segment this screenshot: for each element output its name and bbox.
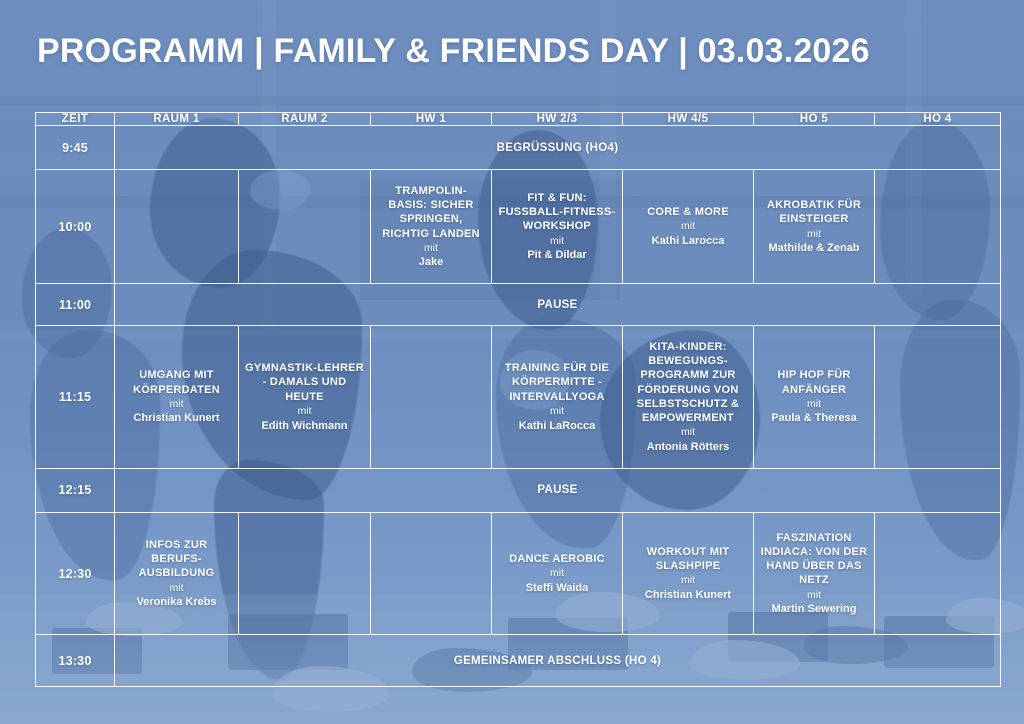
session-person: Kathi LaRocca: [497, 419, 617, 433]
session-person: Christian Kunert: [120, 411, 233, 425]
session-person: Antonia Rötters: [628, 440, 748, 454]
session-person: Jake: [376, 255, 486, 269]
column-header-raum-2: RAUM 2: [239, 113, 371, 126]
session-title: HIP HOP FÜR ANFÄNGER: [759, 368, 869, 397]
session-cell: FASZINATION INDIACA: VON DER HAND ÜBER D…: [754, 512, 875, 634]
session-title: FASZINATION INDIACA: VON DER HAND ÜBER D…: [759, 531, 869, 588]
session-person: Veronika Krebs: [120, 595, 233, 609]
session-cell: [115, 170, 239, 284]
full-width-event: PAUSE: [115, 468, 1001, 512]
session-person: Kathi Larocca: [628, 234, 748, 248]
session-person: Steffi Waida: [497, 581, 617, 595]
column-header-hw-2-3: HW 2/3: [492, 113, 623, 126]
column-header-hw-1: HW 1: [371, 113, 492, 126]
session-cell: [875, 512, 1001, 634]
table-row: 10:00 TRAMPOLIN-BASIS: SICHER SPRINGEN, …: [36, 170, 1001, 284]
session-cell: [239, 512, 371, 634]
table-row: 11:15 UMGANG MIT KÖRPERDATEN mit Christi…: [36, 326, 1001, 468]
session-with: mit: [759, 228, 869, 242]
session-cell: DANCE AEROBIC mit Steffi Waida: [492, 512, 623, 634]
session-cell: INFOS ZUR BERUFS-AUSBILDUNG mit Veronika…: [115, 512, 239, 634]
table-row: 9:45 BEGRÜSSUNG (HO4): [36, 126, 1001, 170]
session-title: WORKOUT MIT SLASHPIPE: [628, 545, 748, 574]
session-with: mit: [120, 582, 233, 596]
session-cell: HIP HOP FÜR ANFÄNGER mit Paula & Theresa: [754, 326, 875, 468]
row-time: 13:30: [36, 635, 115, 687]
session-with: mit: [759, 398, 869, 412]
row-time: 9:45: [36, 126, 115, 170]
session-person: Mathilde & Zenab: [759, 241, 869, 255]
table-row: 11:00 PAUSE: [36, 284, 1001, 326]
full-width-event: GEMEINSAMER ABSCHLUSS (HO 4): [115, 635, 1001, 687]
table-row: 12:15 PAUSE: [36, 468, 1001, 512]
session-title: TRAMPOLIN-BASIS: SICHER SPRINGEN, RICHTI…: [376, 184, 486, 241]
session-cell: [875, 326, 1001, 468]
session-with: mit: [120, 398, 233, 412]
page-title: PROGRAMM | FAMILY & FRIENDS DAY | 03.03.…: [37, 32, 870, 71]
row-time: 11:00: [36, 284, 115, 326]
session-cell: UMGANG MIT KÖRPERDATEN mit Christian Kun…: [115, 326, 239, 468]
session-cell: TRAINING FÜR DIE KÖRPERMITTE - INTERVALL…: [492, 326, 623, 468]
session-title: CORE & MORE: [628, 205, 748, 219]
column-header-raum-1: RAUM 1: [115, 113, 239, 126]
session-cell: KITA-KINDER: BEWEGUNGS-PROGRAMM ZUR FÖRD…: [623, 326, 754, 468]
full-width-event: PAUSE: [115, 284, 1001, 326]
session-with: mit: [628, 220, 748, 234]
session-person: Christian Kunert: [628, 588, 748, 602]
session-with: mit: [376, 242, 486, 256]
row-time: 12:30: [36, 512, 115, 634]
session-person: Pit & Dildar: [497, 248, 617, 262]
session-cell: GYMNASTIK-LEHRER - DAMALS UND HEUTE mit …: [239, 326, 371, 468]
full-width-event: BEGRÜSSUNG (HO4): [115, 126, 1001, 170]
session-with: mit: [497, 235, 617, 249]
column-header-hw-4-5: HW 4/5: [623, 113, 754, 126]
session-cell: FIT & FUN: FUSSBALL-FITNESS-WORKSHOP mit…: [492, 170, 623, 284]
session-title: AKROBATIK FÜR EINSTEIGER: [759, 198, 869, 227]
table-row: 13:30 GEMEINSAMER ABSCHLUSS (HO 4): [36, 635, 1001, 687]
session-title: UMGANG MIT KÖRPERDATEN: [120, 368, 233, 397]
session-title: KITA-KINDER: BEWEGUNGS-PROGRAMM ZUR FÖRD…: [628, 340, 748, 426]
session-title: GYMNASTIK-LEHRER - DAMALS UND HEUTE: [244, 361, 365, 404]
session-with: mit: [497, 567, 617, 581]
column-header-ho-5: HO 5: [754, 113, 875, 126]
session-with: mit: [628, 574, 748, 588]
row-time: 11:15: [36, 326, 115, 468]
session-person: Paula & Theresa: [759, 411, 869, 425]
session-cell: [875, 170, 1001, 284]
session-cell: TRAMPOLIN-BASIS: SICHER SPRINGEN, RICHTI…: [371, 170, 492, 284]
session-cell: [371, 326, 492, 468]
column-header-ho-4: HO 4: [875, 113, 1001, 126]
session-with: mit: [497, 405, 617, 419]
row-time: 12:15: [36, 468, 115, 512]
column-header-zeit: ZEIT: [36, 113, 115, 126]
schedule-table: ZEIT RAUM 1 RAUM 2 HW 1 HW 2/3 HW 4/5 HO…: [35, 112, 1001, 687]
session-with: mit: [244, 405, 365, 419]
table-header-row: ZEIT RAUM 1 RAUM 2 HW 1 HW 2/3 HW 4/5 HO…: [36, 113, 1001, 126]
session-cell: AKROBATIK FÜR EINSTEIGER mit Mathilde & …: [754, 170, 875, 284]
table-row: 12:30 INFOS ZUR BERUFS-AUSBILDUNG mit Ve…: [36, 512, 1001, 634]
session-cell: [371, 512, 492, 634]
session-cell: [239, 170, 371, 284]
session-person: Martin Sewering: [759, 602, 869, 616]
row-time: 10:00: [36, 170, 115, 284]
session-cell: WORKOUT MIT SLASHPIPE mit Christian Kune…: [623, 512, 754, 634]
session-cell: CORE & MORE mit Kathi Larocca: [623, 170, 754, 284]
session-person: Edith Wichmann: [244, 419, 365, 433]
session-title: INFOS ZUR BERUFS-AUSBILDUNG: [120, 538, 233, 581]
schedule-table-wrapper: ZEIT RAUM 1 RAUM 2 HW 1 HW 2/3 HW 4/5 HO…: [35, 112, 988, 687]
session-with: mit: [759, 589, 869, 603]
session-title: FIT & FUN: FUSSBALL-FITNESS-WORKSHOP: [497, 191, 617, 234]
session-with: mit: [628, 426, 748, 440]
session-title: DANCE AEROBIC: [497, 552, 617, 566]
session-title: TRAINING FÜR DIE KÖRPERMITTE - INTERVALL…: [497, 361, 617, 404]
